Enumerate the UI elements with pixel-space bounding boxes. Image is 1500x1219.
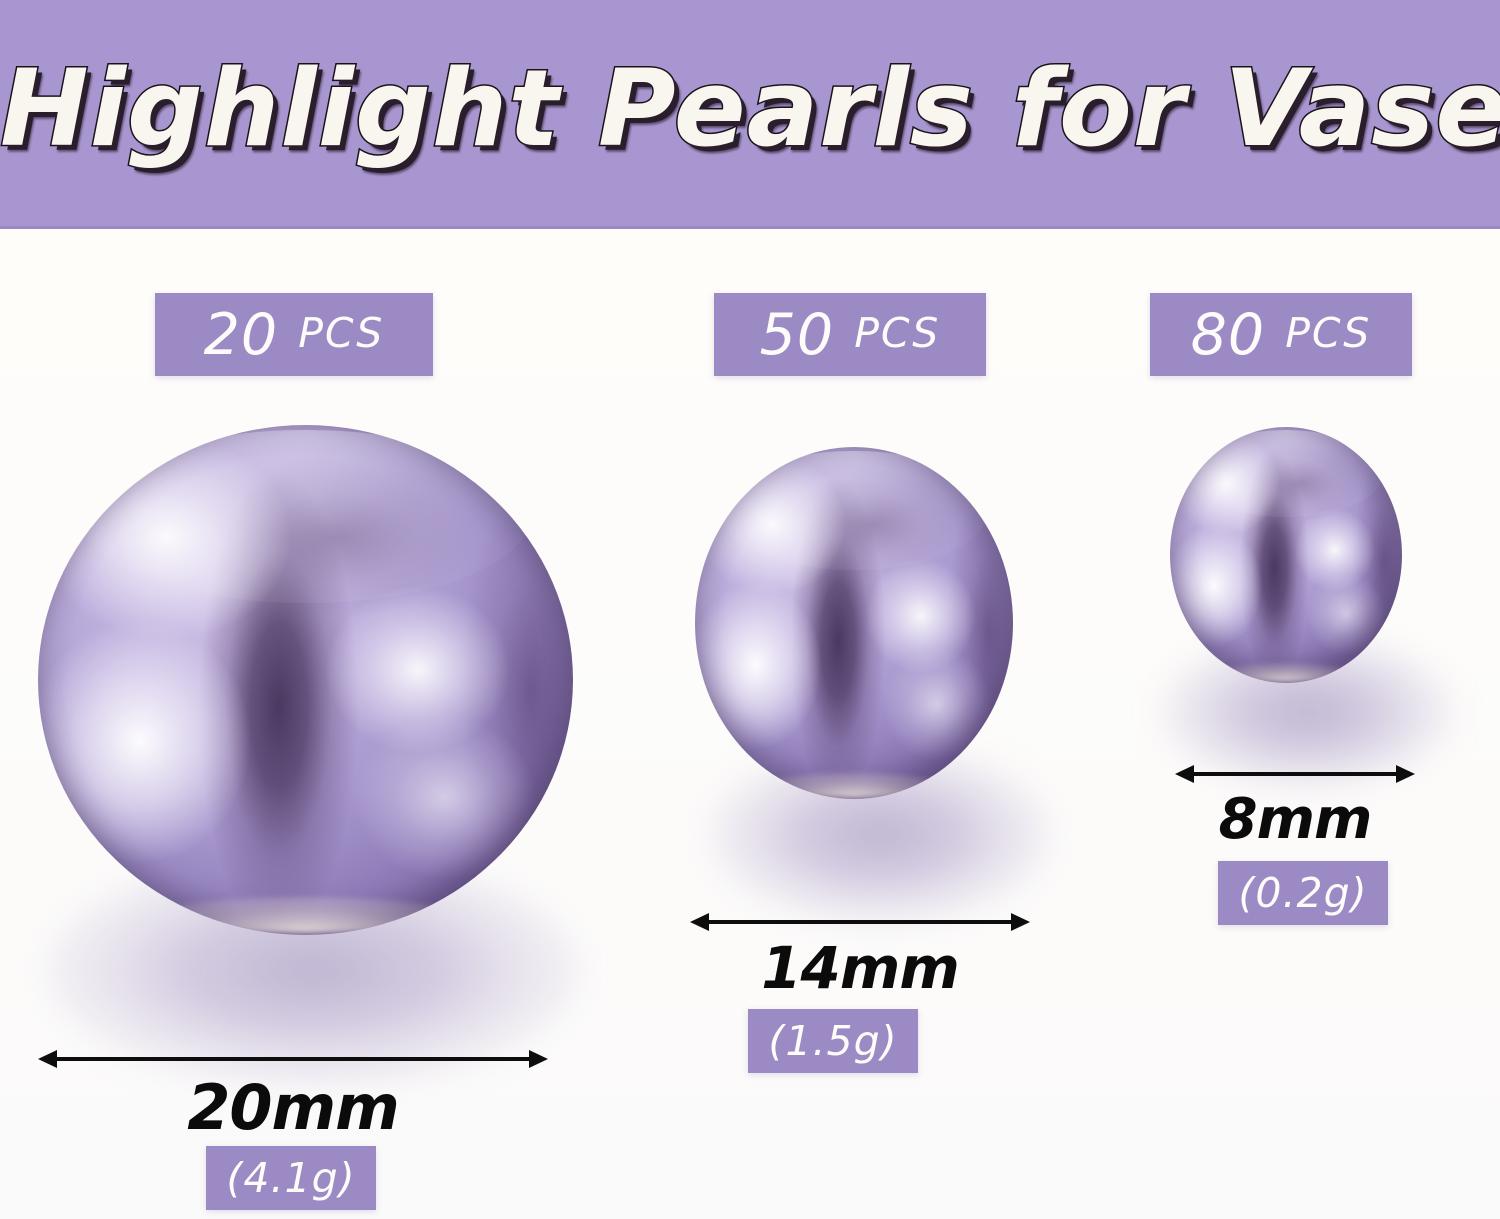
- pcs-unit: PCS: [1285, 309, 1371, 360]
- pcs-count: 80: [1191, 302, 1266, 368]
- dimension-arrow-8mm: [1175, 761, 1415, 787]
- diameter-label-14mm: 14mm: [690, 934, 1030, 1002]
- arrow-line: [48, 1057, 538, 1061]
- pcs-unit: PCS: [298, 309, 384, 360]
- arrow-head-right-icon: [1396, 765, 1415, 783]
- diameter-label-8mm: 8mm: [1175, 787, 1415, 852]
- pearl-image-8mm: [1156, 427, 1426, 747]
- pcs-badge-80: 80 PCS: [1150, 293, 1412, 376]
- product-infographic: Highlight Pearls for Vase 20 PCS 20mm (4…: [0, 0, 1500, 1219]
- header-banner: Highlight Pearls for Vase: [0, 0, 1500, 229]
- pcs-count: 20: [204, 302, 279, 368]
- pearl-sphere: [1170, 427, 1402, 683]
- pearl-image-20mm: [18, 425, 578, 985]
- pcs-count: 50: [760, 302, 835, 368]
- dimension-arrow-20mm: [38, 1046, 548, 1072]
- weight-badge-14mm: (1.5g): [748, 1009, 918, 1073]
- arrow-head-right-icon: [529, 1050, 548, 1068]
- arrow-head-right-icon: [1011, 913, 1030, 931]
- pcs-unit: PCS: [854, 309, 940, 360]
- pcs-badge-50: 50 PCS: [714, 293, 986, 376]
- pearl-sphere: [38, 425, 573, 935]
- weight-badge-8mm: (0.2g): [1218, 861, 1388, 925]
- page-title: Highlight Pearls for Vase: [0, 52, 1500, 166]
- arrow-line: [700, 920, 1020, 924]
- weight-badge-20mm: (4.1g): [206, 1146, 376, 1210]
- dimension-arrow-14mm: [690, 909, 1030, 935]
- diameter-label-20mm: 20mm: [38, 1071, 548, 1144]
- arrow-line: [1185, 772, 1405, 776]
- pearl-image-14mm: [682, 447, 1022, 847]
- pearl-sphere: [695, 447, 1013, 799]
- pcs-badge-20: 20 PCS: [155, 293, 433, 376]
